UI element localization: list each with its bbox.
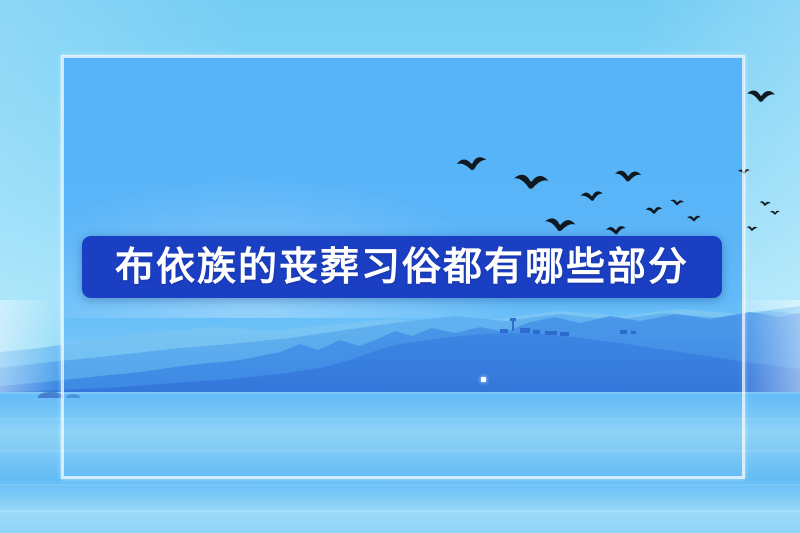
island-silhouette	[66, 394, 80, 398]
water-highlight-line	[0, 392, 800, 394]
water-light-glint	[481, 377, 486, 382]
island-silhouette	[38, 392, 64, 398]
water-highlight-line	[0, 450, 800, 452]
title-banner: 布依族的丧葬习俗都有哪些部分	[82, 236, 722, 298]
page-title: 布依族的丧葬习俗都有哪些部分	[115, 248, 689, 287]
water-highlight-line	[0, 484, 800, 486]
water-highlight-line	[0, 418, 800, 420]
water-highlight-line	[0, 510, 800, 512]
slide-canvas: 布依族的丧葬习俗都有哪些部分	[0, 0, 800, 533]
lake-water	[0, 392, 800, 533]
